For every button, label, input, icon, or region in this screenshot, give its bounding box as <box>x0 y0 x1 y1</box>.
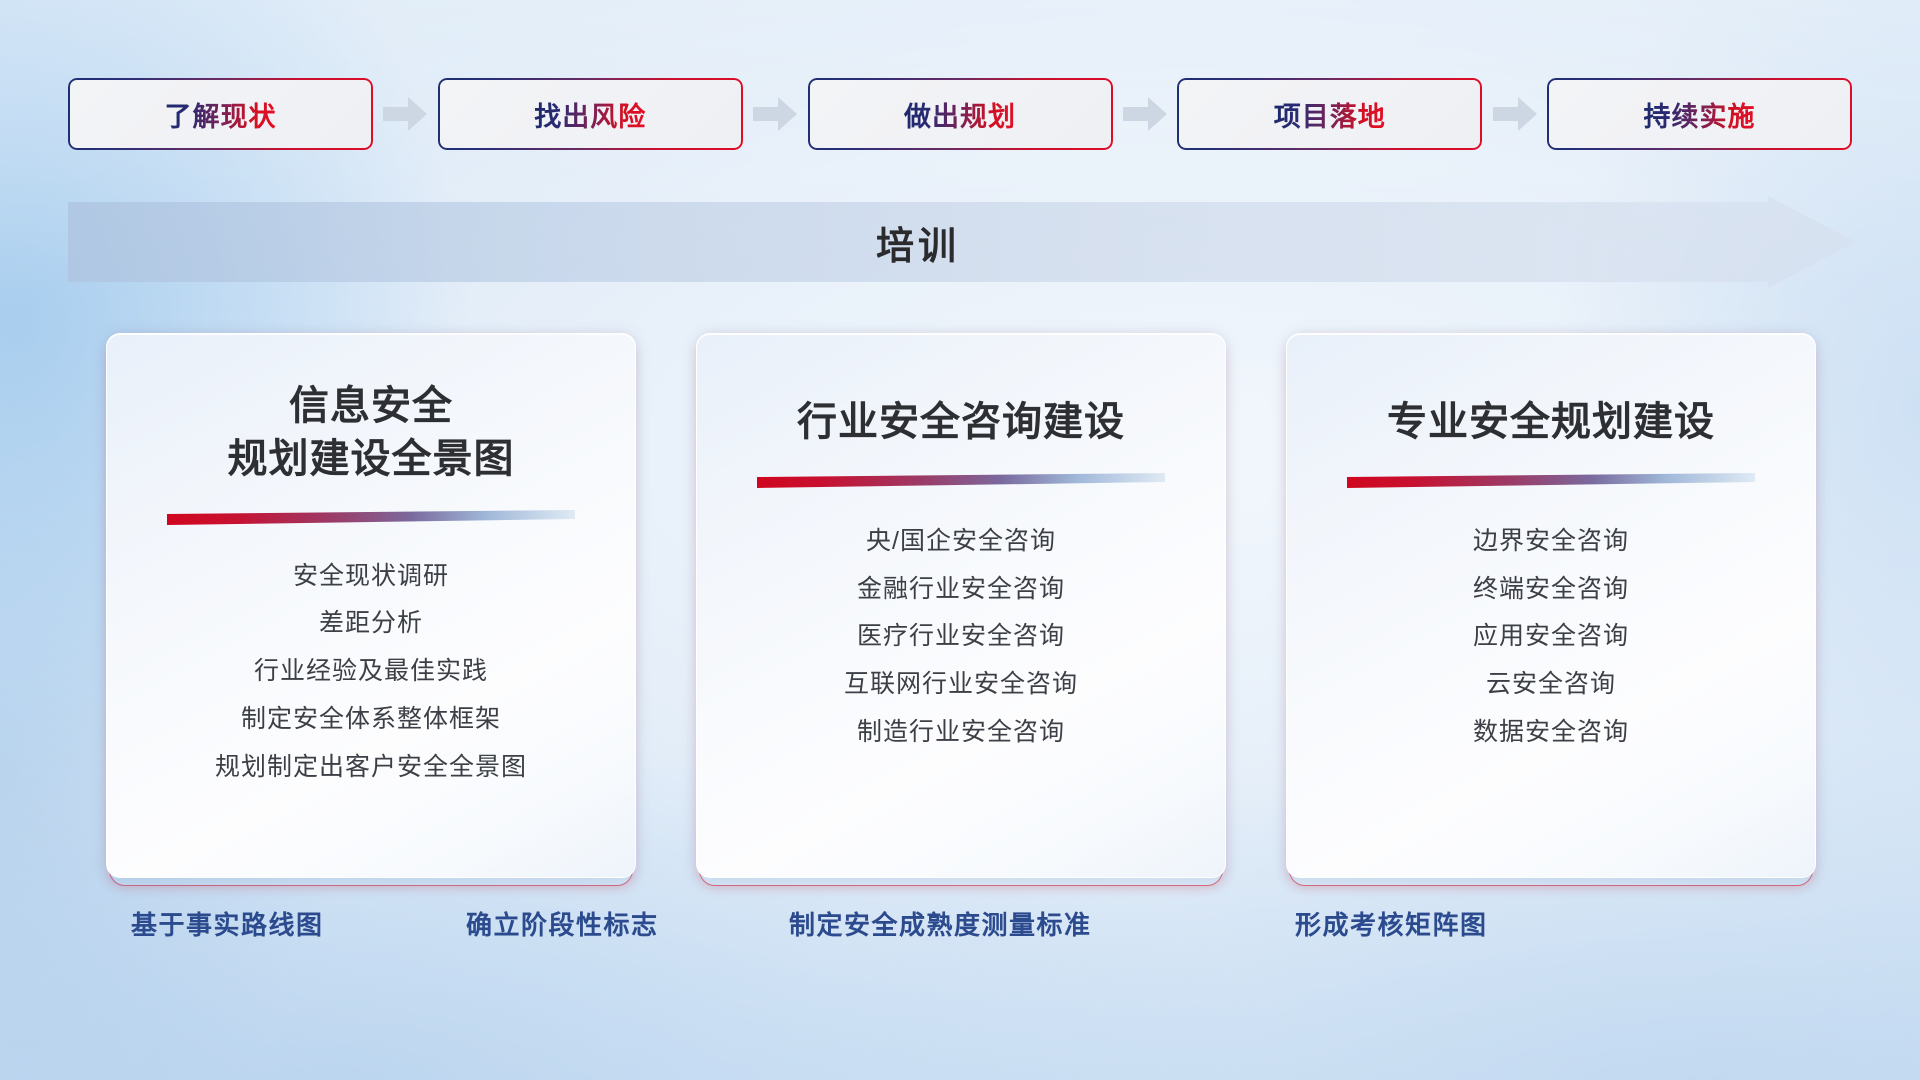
footnote-row: 基于事实路线图 确立阶段性标志 制定安全成熟度测量标准 形成考核矩阵图 <box>0 905 1920 953</box>
list-item: 行业经验及最佳实践 <box>254 652 488 691</box>
step-box-5[interactable]: 持续实施 <box>1547 78 1852 150</box>
step-label-4: 项目落地 <box>1274 95 1386 134</box>
footnote-matrix: 形成考核矩阵图 <box>1295 905 1488 942</box>
list-item: 规划制定出客户安全全景图 <box>215 748 527 787</box>
step-box-4[interactable]: 项目落地 <box>1177 78 1482 150</box>
list-item: 边界安全咨询 <box>1473 522 1629 561</box>
list-item: 差距分析 <box>319 604 423 643</box>
chevron-right-arrow-icon <box>1123 97 1167 131</box>
card-title: 信息安全 规划建设全景图 <box>228 380 515 486</box>
card-face: 信息安全 规划建设全景图 <box>106 333 636 878</box>
list-item: 安全现状调研 <box>293 557 449 596</box>
chevron-right-arrow-icon <box>753 97 797 131</box>
list-item: 应用安全咨询 <box>1473 617 1629 656</box>
list-item: 医疗行业安全咨询 <box>857 617 1065 656</box>
list-item: 云安全咨询 <box>1486 665 1616 704</box>
list-item: 制造行业安全咨询 <box>857 713 1065 752</box>
card-info-security-blueprint[interactable]: 信息安全 规划建设全景图 <box>106 333 636 878</box>
chevron-right-arrow-icon <box>1493 97 1537 131</box>
card-divider-icon <box>167 510 575 527</box>
list-item: 央/国企安全咨询 <box>866 522 1056 561</box>
step-label-2: 找出风险 <box>534 95 646 134</box>
card-item-list: 边界安全咨询 终端安全咨询 应用安全咨询 云安全咨询 数据安全咨询 <box>1287 522 1815 752</box>
card-face: 行业安全咨询建设 <box>696 333 1226 878</box>
banner-title: 培训 <box>68 196 1768 288</box>
card-industry-security-consulting[interactable]: 行业安全咨询建设 <box>696 333 1226 878</box>
list-item: 互联网行业安全咨询 <box>844 665 1078 704</box>
card-item-list: 央/国企安全咨询 金融行业安全咨询 医疗行业安全咨询 互联网行业安全咨询 制造行… <box>697 522 1225 752</box>
slide-stage: 了解现状 找出风险 做出规划 项目落地 <box>0 0 1920 1080</box>
card-item-list: 安全现状调研 差距分析 行业经验及最佳实践 制定安全体系整体框架 规划制定出客户… <box>107 557 635 787</box>
step-box-2[interactable]: 找出风险 <box>438 78 743 150</box>
card-divider-icon <box>1347 473 1755 490</box>
list-item: 终端安全咨询 <box>1473 570 1629 609</box>
card-title: 行业安全咨询建设 <box>797 396 1125 449</box>
process-steps: 了解现状 找出风险 做出规划 项目落地 <box>68 78 1852 150</box>
step-label-3: 做出规划 <box>904 95 1016 134</box>
list-item: 制定安全体系整体框架 <box>241 700 501 739</box>
list-item: 金融行业安全咨询 <box>857 570 1065 609</box>
card-professional-security-planning[interactable]: 专业安全规划建设 <box>1286 333 1816 878</box>
footnote-milestone: 确立阶段性标志 <box>466 905 659 942</box>
step-box-3[interactable]: 做出规划 <box>808 78 1113 150</box>
step-label-1: 了解现状 <box>165 95 277 134</box>
chevron-right-arrow-icon <box>383 97 427 131</box>
card-face: 专业安全规划建设 <box>1286 333 1816 878</box>
training-banner: 培训 <box>68 196 1856 288</box>
list-item: 数据安全咨询 <box>1473 713 1629 752</box>
footnote-maturity: 制定安全成熟度测量标准 <box>789 905 1092 942</box>
card-divider-icon <box>757 473 1165 490</box>
card-title: 专业安全规划建设 <box>1387 396 1715 449</box>
footnote-roadmap: 基于事实路线图 <box>131 905 324 942</box>
step-label-5: 持续实施 <box>1644 95 1756 134</box>
step-box-1[interactable]: 了解现状 <box>68 78 373 150</box>
card-row: 信息安全 规划建设全景图 <box>106 333 1816 878</box>
